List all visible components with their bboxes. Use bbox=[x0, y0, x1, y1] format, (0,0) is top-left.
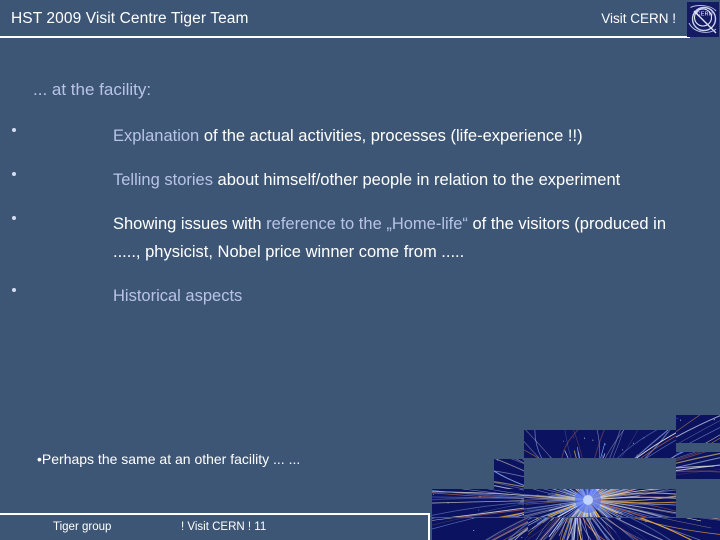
event-display-art bbox=[524, 430, 676, 458]
event-display-tile bbox=[524, 430, 676, 458]
bullet-text-segment: of the actual activities, processes (lif… bbox=[199, 127, 582, 145]
bullet-dot-icon bbox=[12, 288, 16, 292]
header-divider bbox=[0, 36, 690, 38]
event-display-tile bbox=[494, 459, 524, 489]
bullet-text: Telling stories about himself/other peop… bbox=[113, 166, 698, 194]
bullet-text: Historical aspects bbox=[113, 282, 698, 310]
event-display-tile bbox=[432, 489, 524, 517]
header-right-label: Visit CERN ! bbox=[601, 11, 676, 26]
cern-logo-icon: CERN bbox=[687, 2, 719, 37]
bullet-text-segment: Explanation bbox=[113, 127, 199, 145]
event-display-tile bbox=[528, 518, 720, 540]
bullet-text-segment: about himself/other people in relation t… bbox=[213, 171, 620, 189]
footer-divider bbox=[0, 513, 430, 515]
bullet-item: Telling stories about himself/other peop… bbox=[0, 166, 720, 194]
bullet-text-segment: Telling stories bbox=[113, 171, 213, 189]
bullet-text-segment: reference to the „Home-life“ bbox=[266, 215, 468, 233]
bullet-item: Explanation of the actual activities, pr… bbox=[0, 122, 720, 150]
slide: HST 2009 Visit Centre Tiger Team Visit C… bbox=[0, 0, 720, 540]
event-display-tile bbox=[676, 452, 720, 479]
bullet-text: Showing issues with reference to the „Ho… bbox=[113, 210, 698, 266]
page-title: HST 2009 Visit Centre Tiger Team bbox=[11, 10, 249, 28]
event-display-tile bbox=[676, 415, 720, 443]
bullet-list: Explanation of the actual activities, pr… bbox=[0, 122, 720, 326]
event-display-tile bbox=[432, 518, 528, 540]
footer-left-label: Tiger group bbox=[53, 521, 111, 533]
event-display-art bbox=[528, 518, 720, 540]
slide-header: HST 2009 Visit Centre Tiger Team Visit C… bbox=[0, 0, 720, 42]
bullet-text-segment: Showing issues with bbox=[113, 215, 266, 233]
event-display-art bbox=[432, 518, 528, 540]
bullet-dot-icon bbox=[12, 216, 16, 220]
svg-text:CERN: CERN bbox=[697, 12, 713, 18]
bullet-text: Explanation of the actual activities, pr… bbox=[113, 122, 698, 150]
bullet-item: Showing issues with reference to the „Ho… bbox=[0, 210, 720, 266]
footer-separator bbox=[428, 513, 430, 540]
bullet-dot-icon bbox=[12, 172, 16, 176]
sub-note: •Perhaps the same at an other facility .… bbox=[37, 451, 300, 467]
event-display-tile bbox=[524, 489, 676, 517]
cern-logo: CERN bbox=[687, 2, 719, 37]
event-display-art bbox=[494, 459, 524, 489]
bullet-item: Historical aspects bbox=[0, 282, 720, 310]
bullet-dot-icon bbox=[12, 128, 16, 132]
bullet-text-segment: Historical aspects bbox=[113, 287, 242, 305]
event-display-art bbox=[524, 489, 676, 517]
event-display-art bbox=[676, 452, 720, 479]
event-display-art bbox=[432, 489, 524, 517]
lead-text: ... at the facility: bbox=[33, 80, 151, 100]
event-display-art bbox=[676, 415, 720, 443]
footer-center-label: ! Visit CERN ! 11 bbox=[181, 521, 266, 533]
